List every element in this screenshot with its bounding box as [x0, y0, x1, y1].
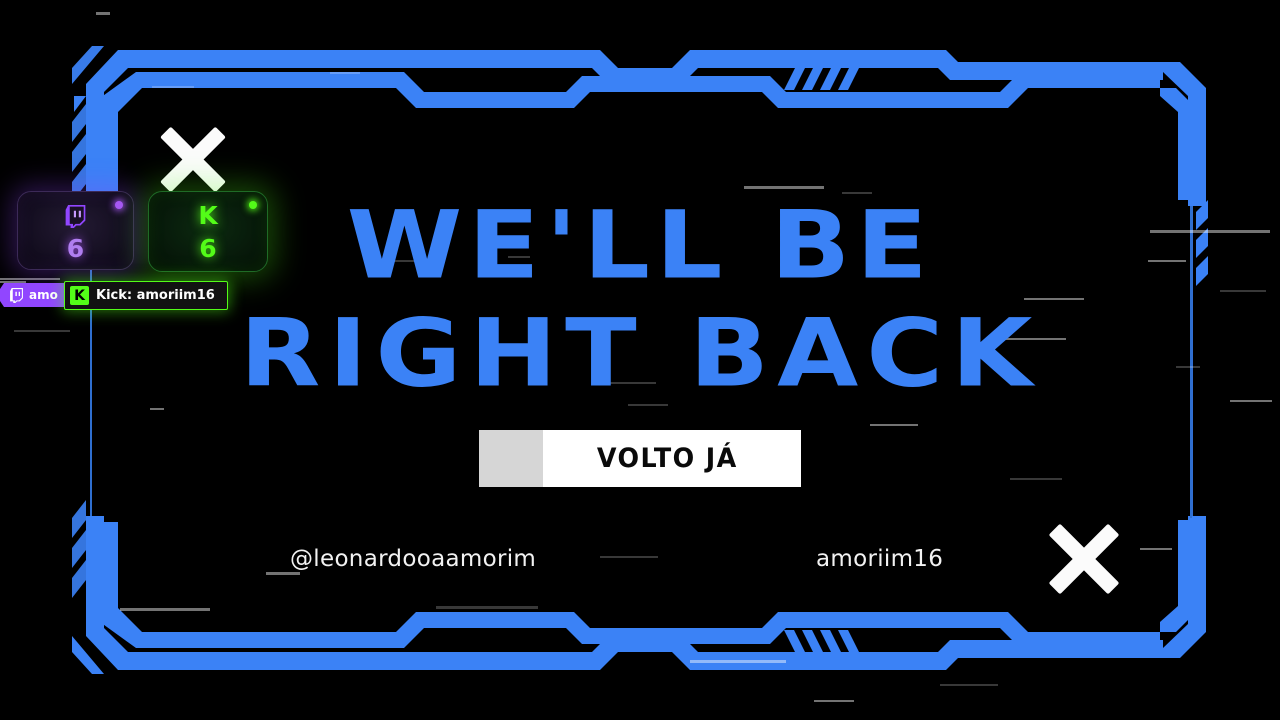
twitch-channel-label[interactable]: amo	[0, 283, 70, 307]
twitch-glyph-icon	[10, 288, 23, 303]
twitch-channel-name: amo	[29, 288, 58, 302]
x-mark-icon-top-left	[158, 123, 228, 195]
brb-overlay-screen: WE'LL BE RIGHT BACK VOLTO JÁ @leonardooa…	[0, 0, 1280, 720]
title-line-2: RIGHT BACK	[0, 299, 1280, 409]
kick-k-glyph: K	[198, 205, 217, 227]
kick-channel-name: Kick: amoriim16	[96, 288, 215, 303]
kick-k-icon: K	[149, 205, 267, 227]
social-handle-left: @leonardooaamorim	[290, 546, 536, 572]
twitch-glyph-svg	[65, 205, 86, 228]
banner-swatch	[479, 430, 543, 487]
social-handle-right: amoriim16	[816, 546, 943, 572]
viewer-card-twitch[interactable]: 6	[17, 191, 134, 270]
twitch-glyph-icon	[18, 205, 133, 228]
volto-ja-banner: VOLTO JÁ	[479, 430, 801, 487]
viewer-card-kick[interactable]: K 6	[148, 191, 268, 272]
x-mark-icon-bottom-right	[1048, 520, 1120, 598]
kick-channel-tooltip[interactable]: K Kick: amoriim16	[64, 281, 228, 310]
kick-k-badge-icon: K	[70, 286, 89, 305]
viewer-count-kick: 6	[149, 234, 267, 263]
banner-label: VOLTO JÁ	[551, 430, 794, 487]
viewer-count-twitch: 6	[18, 234, 133, 263]
